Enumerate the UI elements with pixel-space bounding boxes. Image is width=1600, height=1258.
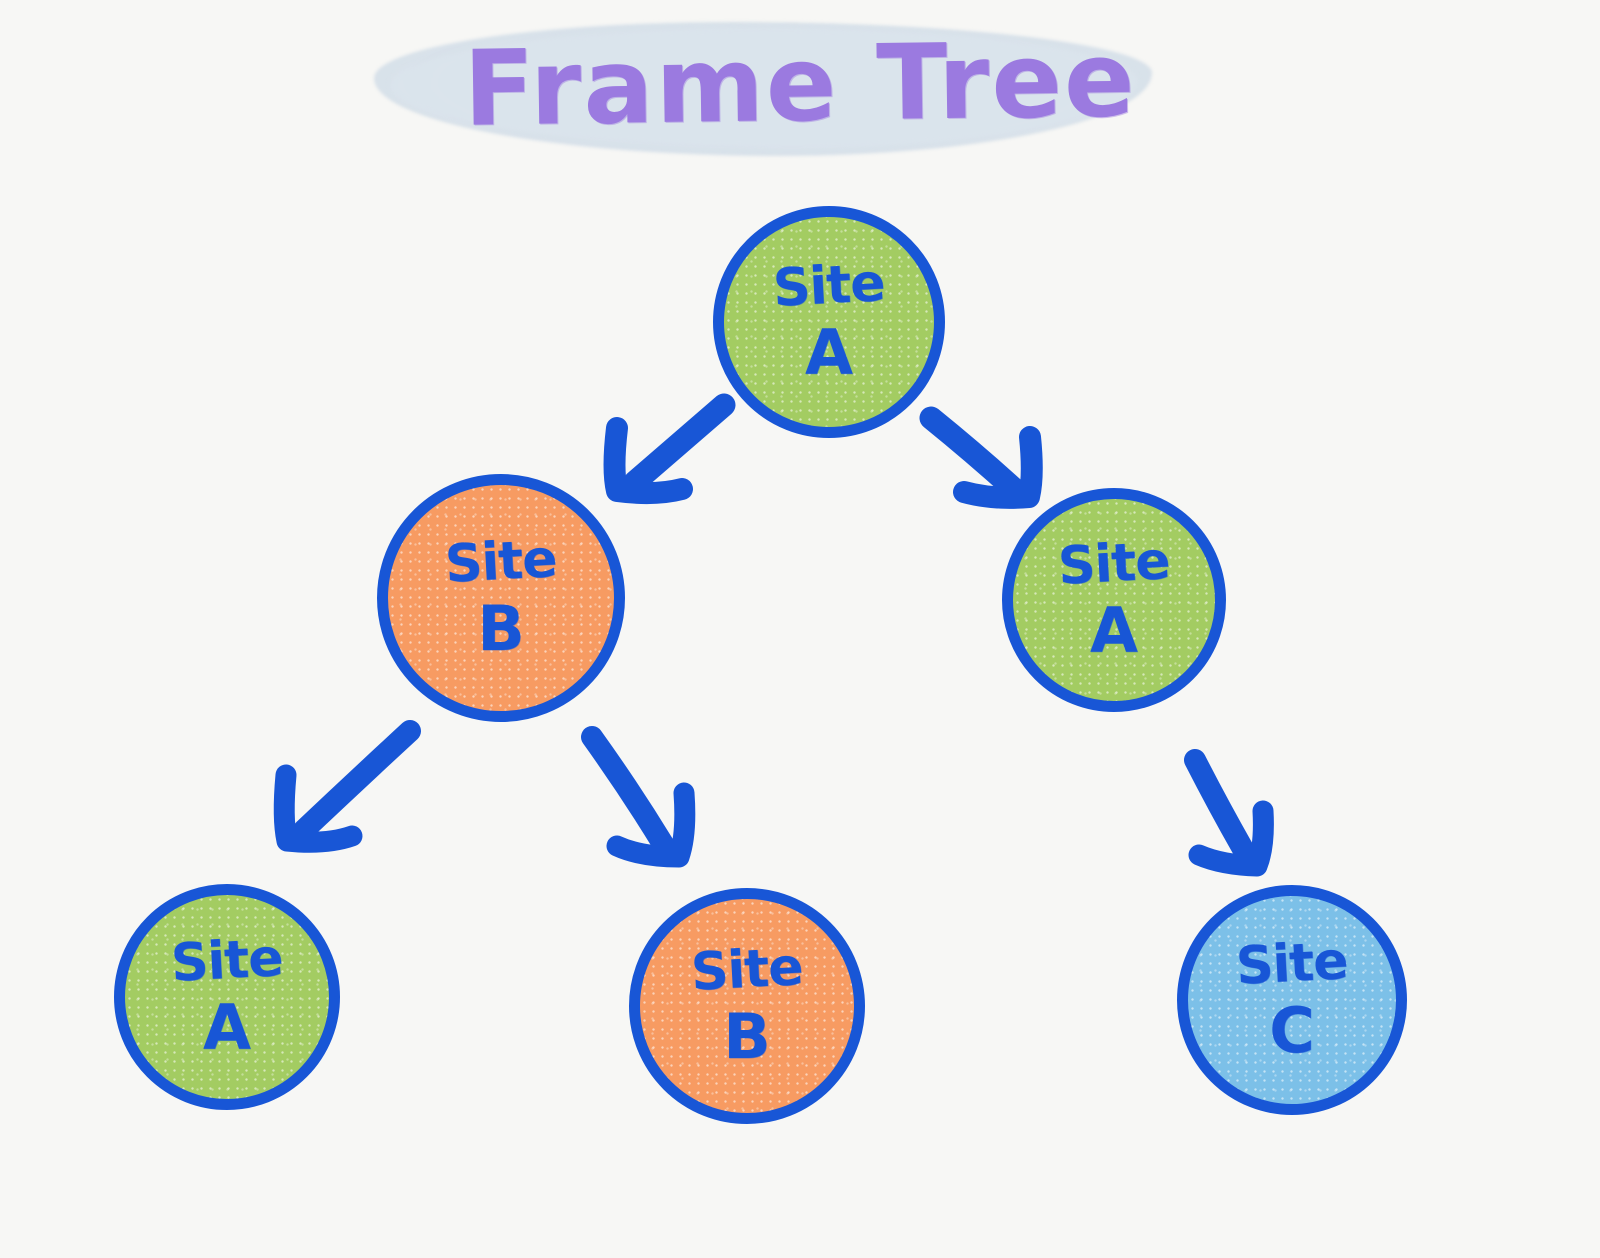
edge-site-a-to-site-c <box>1195 760 1263 866</box>
node-label-bottom: A <box>1090 600 1138 662</box>
node-label-bottom: A <box>805 322 853 384</box>
node-label-top: Site <box>1057 535 1171 593</box>
node-site-b-level1[interactable]: Site B <box>377 474 625 722</box>
node-label-bottom: C <box>1269 1000 1315 1062</box>
edge-site-b-to-site-a <box>284 731 410 842</box>
node-root-site-a[interactable]: Site A <box>713 206 945 438</box>
frame-tree-diagram: Frame Tree Site A <box>0 0 1600 1258</box>
node-label-bottom: B <box>723 1006 770 1068</box>
node-label-top: Site <box>170 932 284 990</box>
node-site-c-level2[interactable]: Site C <box>1177 885 1407 1115</box>
node-site-a-level1[interactable]: Site A <box>1002 488 1226 712</box>
node-site-a-level2[interactable]: Site A <box>114 884 340 1110</box>
page-title: Frame Tree <box>0 13 1600 155</box>
edge-root-a-to-site-b <box>615 405 725 493</box>
node-label-top: Site <box>772 257 886 315</box>
node-site-b-level2[interactable]: Site B <box>629 888 865 1124</box>
node-label-top: Site <box>690 941 804 999</box>
node-label-top: Site <box>444 533 558 591</box>
edge-site-b-to-site-b <box>592 737 685 857</box>
node-label-top: Site <box>1235 935 1349 993</box>
node-label-bottom: A <box>203 997 251 1059</box>
edge-root-a-to-site-a <box>931 418 1032 498</box>
title-area: Frame Tree <box>0 0 1600 180</box>
node-label-bottom: B <box>477 598 524 660</box>
